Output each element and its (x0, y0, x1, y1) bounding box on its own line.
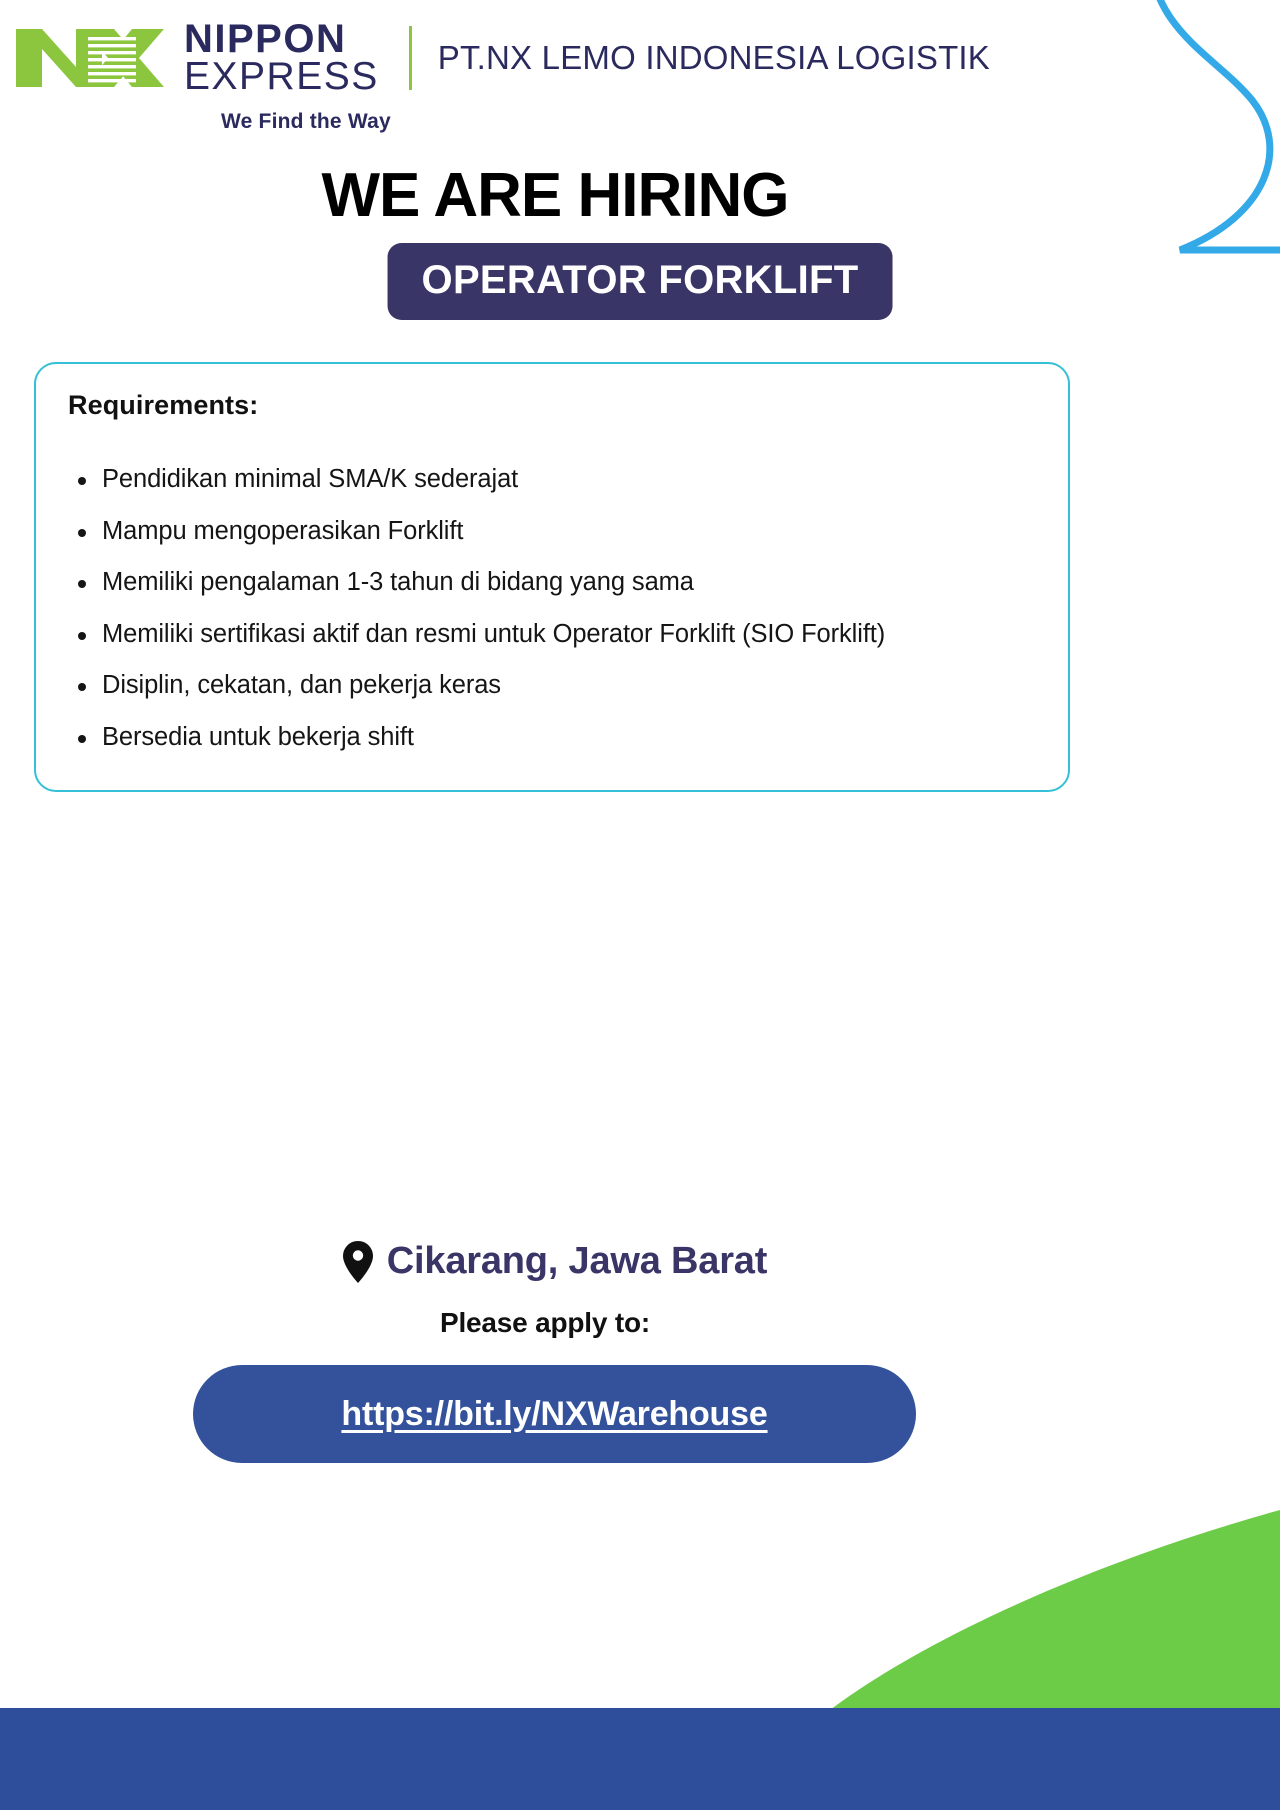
job-poster: NIPPON EXPRESS PT.NX LEMO INDONESIA LOGI… (0, 0, 1280, 1810)
list-item: Disiplin, cekatan, dan pekerja keras (102, 673, 1038, 699)
requirements-heading: Requirements: (58, 390, 1038, 421)
location-row: Cikarang, Jawa Barat (0, 1240, 1110, 1283)
brand-divider (409, 26, 412, 90)
role-badge: OPERATOR FORKLIFT (388, 243, 893, 320)
nippon-express-wordmark: NIPPON EXPRESS (184, 20, 379, 96)
wordmark-nippon: NIPPON (184, 20, 379, 58)
apply-url-text[interactable]: https://bit.ly/NXWarehouse (341, 1395, 767, 1434)
requirements-list: Pendidikan minimal SMA/K sederajat Mampu… (58, 467, 1038, 750)
wordmark-express: EXPRESS (184, 58, 379, 95)
page-title: WE ARE HIRING (0, 160, 1110, 231)
apply-url-button[interactable]: https://bit.ly/NXWarehouse (193, 1365, 916, 1463)
list-item: Memiliki sertifikasi aktif dan resmi unt… (102, 622, 1038, 648)
brand-tagline: We Find the Way (221, 110, 1124, 134)
list-item: Bersedia untuk bekerja shift (102, 725, 1038, 751)
apply-label: Please apply to: (0, 1307, 1090, 1339)
brand-row: NIPPON EXPRESS PT.NX LEMO INDONESIA LOGI… (14, 22, 1124, 94)
poster-header: NIPPON EXPRESS PT.NX LEMO INDONESIA LOGI… (14, 22, 1124, 152)
nx-logo-icon (14, 27, 164, 89)
list-item: Memiliki pengalaman 1-3 tahun di bidang … (102, 570, 1038, 596)
map-pin-icon (343, 1241, 373, 1283)
location-text: Cikarang, Jawa Barat (387, 1240, 767, 1283)
requirements-card: Requirements: Pendidikan minimal SMA/K s… (34, 362, 1070, 792)
list-item: Mampu mengoperasikan Forklift (102, 519, 1038, 545)
entity-name: PT.NX LEMO INDONESIA LOGISTIK (438, 39, 990, 77)
list-item: Pendidikan minimal SMA/K sederajat (102, 467, 1038, 493)
